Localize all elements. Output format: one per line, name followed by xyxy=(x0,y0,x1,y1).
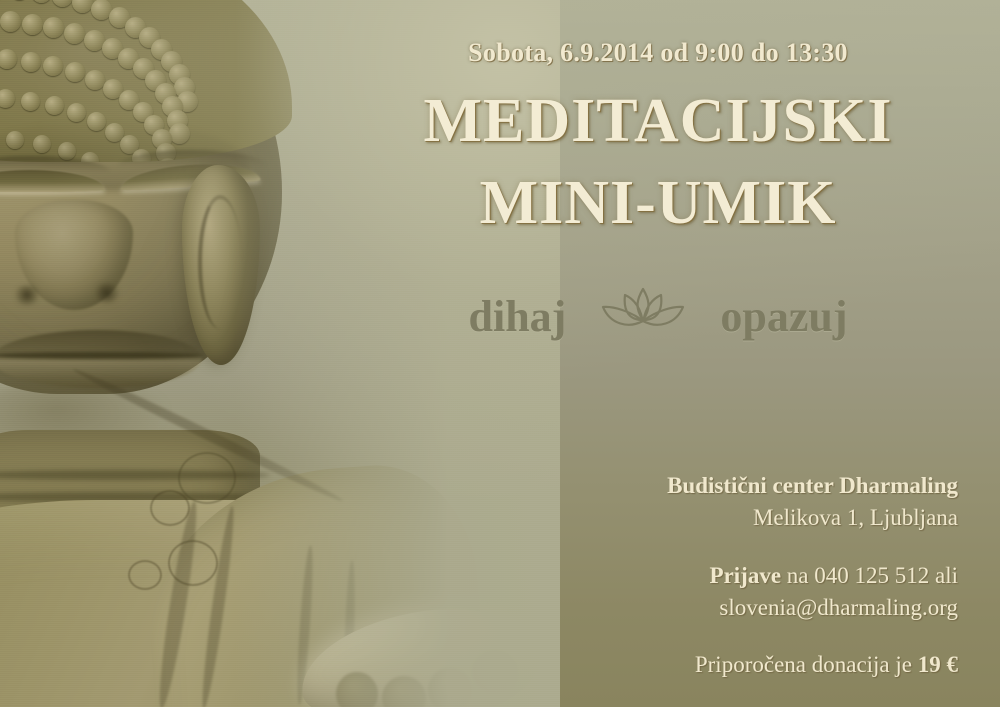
registration-email: slovenia@dharmaling.org xyxy=(358,592,958,624)
registration-phone-line: Prijave na 040 125 512 ali xyxy=(358,560,958,592)
donation-amount: 19 € xyxy=(918,652,958,677)
tagline-word-opazuj: opazuj xyxy=(720,291,847,342)
title-line-1: MEDITACIJSKI xyxy=(358,68,958,160)
venue-block: Budistični center Dharmaling Melikova 1,… xyxy=(358,470,958,533)
registration-phone: na 040 125 512 ali xyxy=(781,563,958,588)
title-line-2: MINI-UMIK xyxy=(358,160,958,242)
donation-block: Priporočena donacija je 19 € xyxy=(358,649,958,681)
lotus-icon xyxy=(600,285,686,348)
donation-line: Priporočena donacija je 19 € xyxy=(358,649,958,681)
poster-content: Sobota, 6.9.2014 od 9:00 do 13:30 MEDITA… xyxy=(358,0,958,707)
contact-details: Budistični center Dharmaling Melikova 1,… xyxy=(358,470,958,681)
tagline: dihaj opazuj xyxy=(358,241,958,348)
donation-text: Priporočena donacija je xyxy=(695,652,918,677)
venue-address: Melikova 1, Ljubljana xyxy=(358,502,958,534)
tagline-word-dihaj: dihaj xyxy=(469,291,567,342)
meditation-retreat-poster: Sobota, 6.9.2014 od 9:00 do 13:30 MEDITA… xyxy=(0,0,1000,707)
registration-label: Prijave xyxy=(710,563,782,588)
event-datetime: Sobota, 6.9.2014 od 9:00 do 13:30 xyxy=(358,0,958,68)
registration-block: Prijave na 040 125 512 ali slovenia@dhar… xyxy=(358,560,958,623)
venue-name: Budistični center Dharmaling xyxy=(358,470,958,502)
poster-title: MEDITACIJSKI MINI-UMIK xyxy=(358,68,958,241)
